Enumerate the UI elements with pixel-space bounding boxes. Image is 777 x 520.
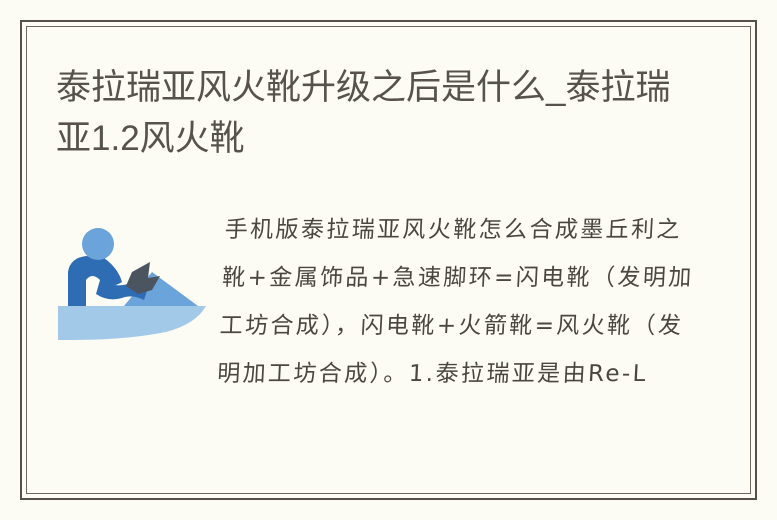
page-title-text: 泰拉瑞亚风火靴升级之后是什么_泰拉瑞亚1.2风火靴	[56, 62, 696, 164]
person-with-shoe-illustration	[56, 228, 206, 348]
person-head-shape	[82, 228, 114, 260]
page-root: 泰拉瑞亚风火靴升级之后是什么_泰拉瑞亚1.2风火靴 手机版泰拉瑞亚风火靴怎么合成…	[0, 0, 777, 520]
page-title: 泰拉瑞亚风火靴升级之后是什么_泰拉瑞亚1.2风火靴	[56, 62, 696, 164]
article-content-row: 手机版泰拉瑞亚风火靴怎么合成墨丘利之靴+金属饰品+急速脚环=闪电靴（发明加工坊合…	[56, 206, 706, 398]
article-body-text: 手机版泰拉瑞亚风火靴怎么合成墨丘利之靴+金属饰品+急速脚环=闪电靴（发明加工坊合…	[196, 206, 706, 398]
shoe-sole-shape	[58, 306, 206, 340]
